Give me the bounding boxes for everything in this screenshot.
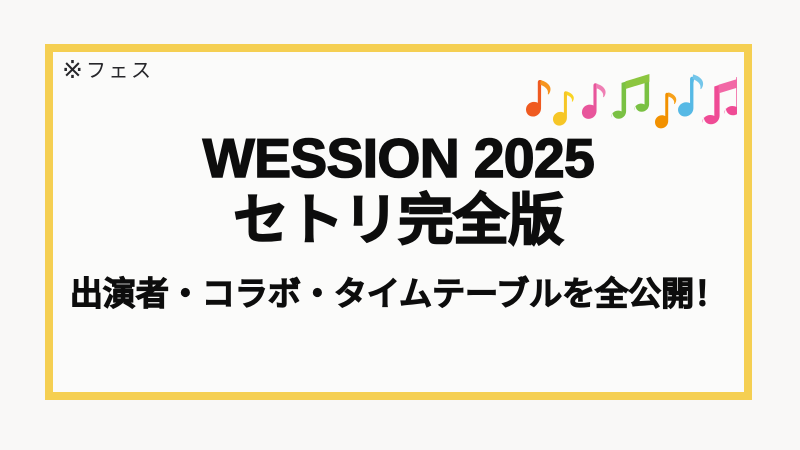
page-subtitle: 出演者・コラボ・タイムテーブルを全公開！ (45, 274, 752, 314)
brand-logo[interactable]: ※ フェス (62, 56, 153, 86)
page-title-line1: WESSION 2025 (45, 130, 752, 187)
kome-reference-mark-icon: ※ (62, 58, 83, 83)
brand-label: フェス (86, 61, 154, 81)
page-title-line2: セトリ完全版 (45, 189, 752, 252)
poster-canvas: ※ フェス (0, 0, 800, 450)
headline-block: WESSION 2025 セトリ完全版 出演者・コラボ・タイムテーブルを全公開！ (45, 130, 752, 313)
